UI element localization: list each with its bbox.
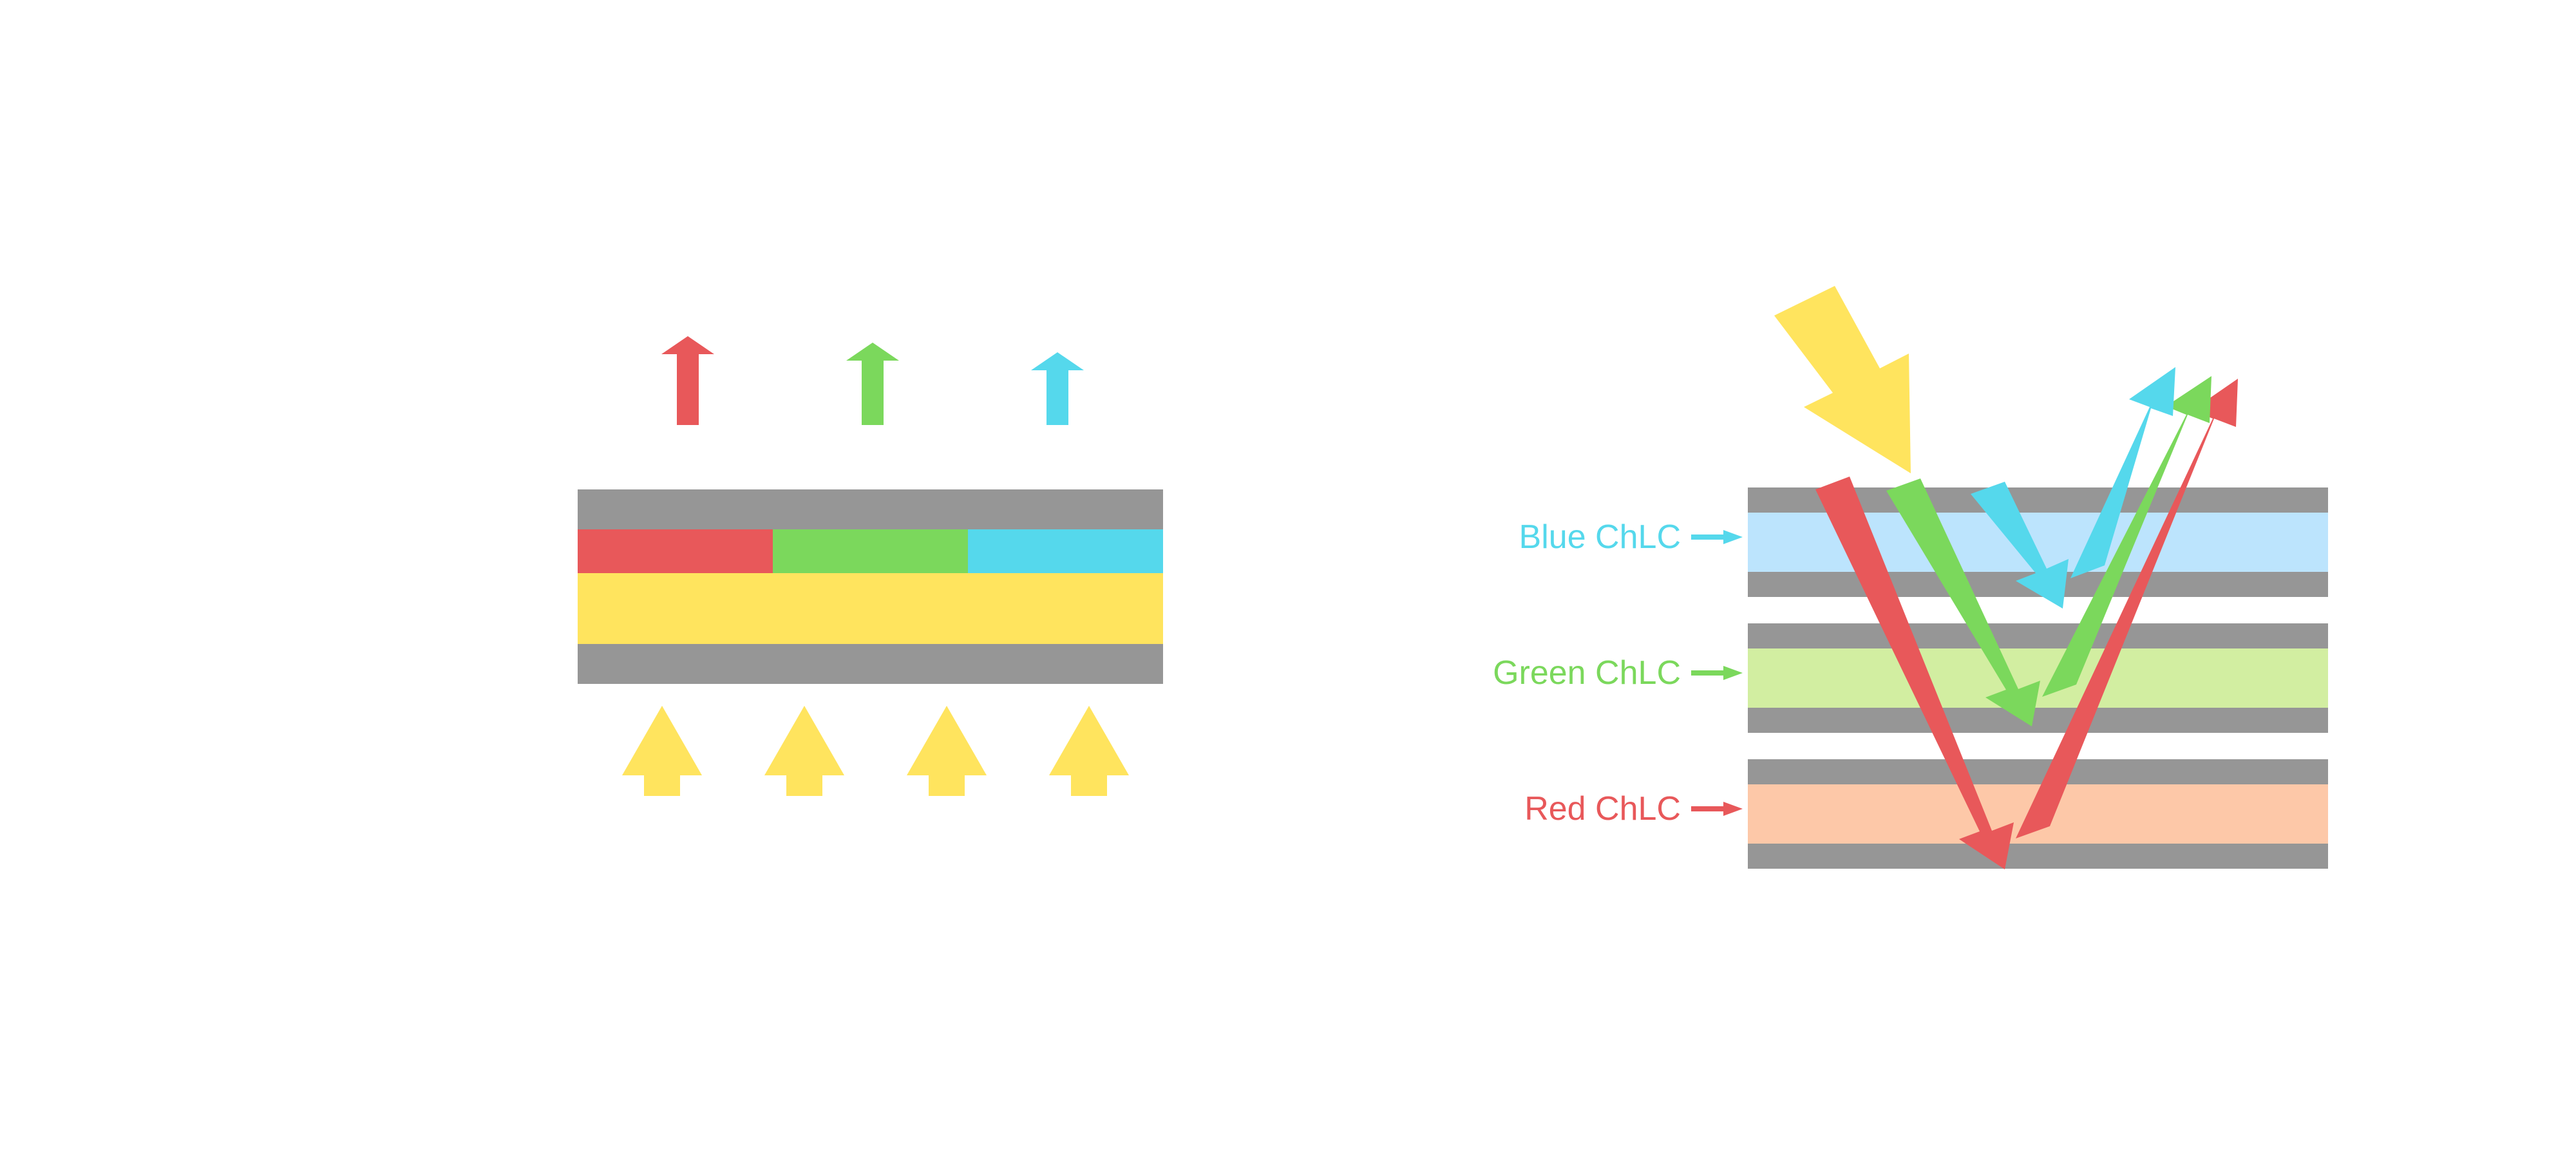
- diagram-svg: Blue ChLC Green ChLC Red ChLC: [0, 0, 2576, 1154]
- green-cell-top-electrode: [1748, 623, 2328, 648]
- backlight-layer: [578, 573, 1163, 644]
- red-emission-arrow: [661, 336, 714, 425]
- red-subpixel: [578, 529, 773, 573]
- bottom-electrode: [578, 644, 1163, 684]
- blue-label-arrow: [1691, 530, 1743, 544]
- blue-chlc-label: Blue ChLC: [1519, 518, 1681, 556]
- right-panel: Blue ChLC Green ChLC Red ChLC: [1493, 286, 2328, 869]
- red-label-arrow: [1691, 802, 1743, 816]
- figure-canvas: Blue ChLC Green ChLC Red ChLC: [0, 0, 2576, 1154]
- green-cell-bottom-electrode: [1748, 708, 2328, 733]
- top-electrode: [578, 489, 1163, 529]
- blue-emission-arrow: [1031, 352, 1084, 425]
- emitted-arrows-group: [661, 336, 1084, 425]
- red-cell-top-electrode: [1748, 759, 2328, 784]
- green-subpixel: [773, 529, 968, 573]
- left-panel: [578, 336, 1163, 796]
- left-layer-stack: [578, 489, 1163, 684]
- backlight-arrow: [907, 706, 987, 796]
- blue-subpixel: [968, 529, 1163, 573]
- backlight-arrows-group: [622, 706, 1129, 796]
- backlight-arrow: [622, 706, 702, 796]
- green-chlc-label: Green ChLC: [1493, 654, 1681, 692]
- backlight-arrow: [1049, 706, 1129, 796]
- red-cell-bottom-electrode: [1748, 844, 2328, 869]
- chlc-labels-group: Blue ChLC Green ChLC Red ChLC: [1493, 518, 1743, 828]
- green-label-arrow: [1691, 666, 1743, 680]
- red-chlc-label: Red ChLC: [1524, 790, 1681, 828]
- green-emission-arrow: [846, 343, 899, 425]
- incident-white-light-arrow: [1774, 286, 1911, 473]
- green-chlc-layer: [1748, 648, 2328, 708]
- backlight-arrow: [764, 706, 844, 796]
